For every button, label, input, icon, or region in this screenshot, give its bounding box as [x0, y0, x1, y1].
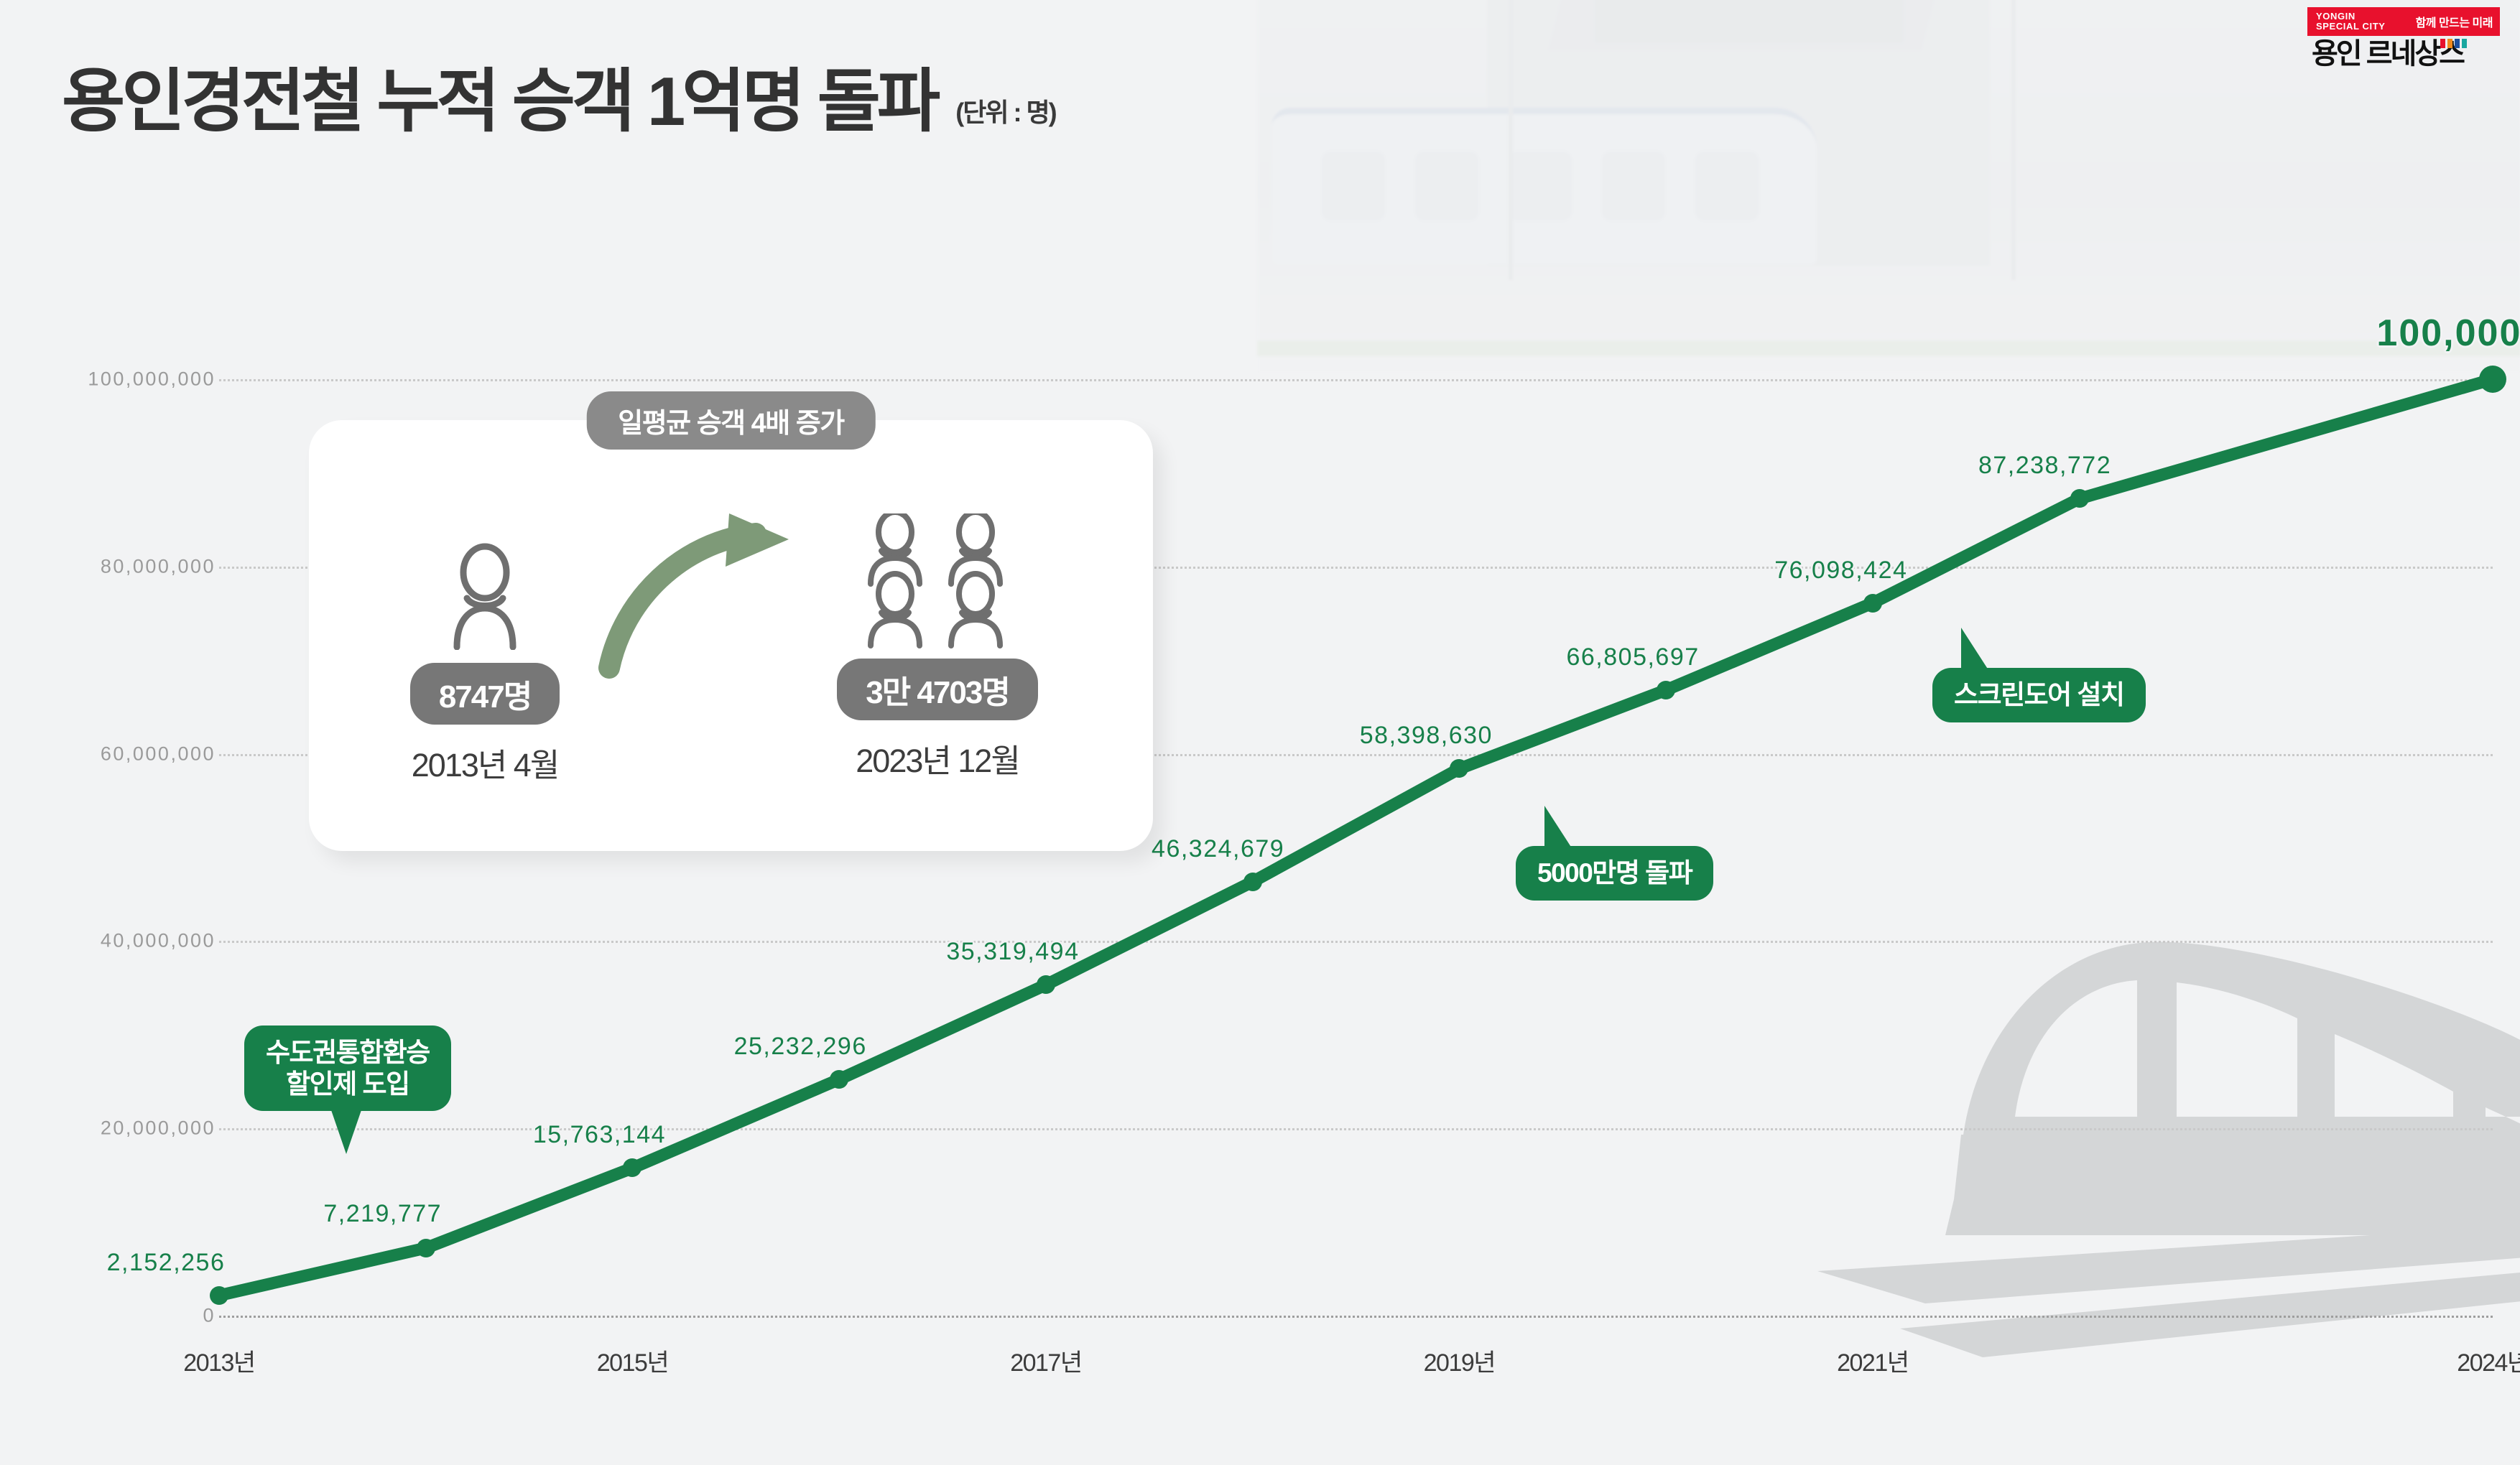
callout-line-1: 스크린도어 설치 — [1954, 679, 2124, 711]
data-point-label: 66,805,697 — [1566, 643, 1699, 671]
callout-tail — [1544, 806, 1573, 850]
data-point[interactable] — [830, 1070, 848, 1089]
data-point[interactable] — [623, 1158, 641, 1177]
chart-annotation-callout: 5000만명 돌파 — [1516, 846, 1713, 901]
callout-tail — [330, 1108, 362, 1154]
y-axis-tick-label: 80,000,000 — [101, 555, 216, 577]
card-badge: 일평균 승객 4배 증가 — [586, 391, 876, 450]
x-axis-tick-label: 2019년 — [1424, 1343, 1495, 1378]
chart-annotation-callout: 수도권통합환승할인제 도입 — [244, 1025, 451, 1111]
x-axis-tick-label: 2021년 — [1837, 1343, 1908, 1378]
gridline — [219, 941, 2493, 943]
x-axis-tick-label: 2024년 — [2457, 1343, 2520, 1378]
y-axis-tick-label: 20,000,000 — [101, 1117, 216, 1140]
data-point[interactable] — [1450, 759, 1468, 778]
x-axis-tick-label: 2013년 — [183, 1343, 254, 1378]
data-point-label: 100,000,000 — [2376, 312, 2520, 355]
y-axis-tick-label: 60,000,000 — [101, 743, 216, 765]
y-axis-tick-label: 0 — [203, 1305, 216, 1327]
card-left-caption: 2013년 4월 — [366, 739, 603, 786]
data-point-label: 35,319,494 — [946, 938, 1079, 966]
card-right-caption: 2023년 12월 — [769, 735, 1106, 781]
data-point[interactable] — [417, 1239, 435, 1257]
data-point[interactable] — [210, 1286, 228, 1305]
callout-line-1: 5000만명 돌파 — [1537, 857, 1692, 889]
single-person-icon — [445, 542, 524, 650]
data-point[interactable] — [2070, 489, 2089, 508]
gridline — [219, 379, 2493, 381]
chart-annotation-callout: 스크린도어 설치 — [1932, 668, 2146, 722]
data-point[interactable] — [1657, 681, 1675, 699]
data-point[interactable] — [2479, 366, 2506, 393]
data-point-label: 25,232,296 — [734, 1033, 867, 1061]
callout-line-1: 수도권통합환승 — [266, 1037, 430, 1069]
x-axis-line — [219, 1316, 2493, 1318]
data-point[interactable] — [1037, 975, 1055, 994]
data-point[interactable] — [1243, 873, 1262, 891]
y-axis-tick-label: 40,000,000 — [101, 930, 216, 952]
x-axis-tick-label: 2017년 — [1010, 1343, 1081, 1378]
infographic-canvas: YONGIN SPECIAL CITY 함께 만드는 미래 용인 르네상스 용인… — [0, 0, 2520, 1465]
card-right-value: 3만 4703명 — [837, 659, 1038, 720]
callout-tail — [1961, 628, 1990, 672]
daily-average-card: 일평균 승객 4배 증가 8747명 2013년 4월 — [309, 420, 1153, 851]
data-point-label: 58,398,630 — [1360, 722, 1493, 750]
data-point[interactable] — [1863, 594, 1882, 613]
x-axis-tick-label: 2015년 — [597, 1343, 668, 1378]
data-point-label: 15,763,144 — [533, 1121, 666, 1149]
y-axis-tick-label: 100,000,000 — [88, 368, 216, 391]
data-point-label: 76,098,424 — [1774, 557, 1907, 585]
data-point-label: 2,152,256 — [107, 1249, 226, 1277]
callout-line-2: 할인제 도입 — [266, 1069, 430, 1100]
four-people-icon — [848, 513, 1027, 650]
data-point-label: 7,219,777 — [323, 1200, 442, 1228]
data-point-label: 46,324,679 — [1152, 835, 1284, 863]
card-left-value: 8747명 — [410, 663, 560, 725]
data-point-label: 87,238,772 — [1978, 452, 2111, 480]
